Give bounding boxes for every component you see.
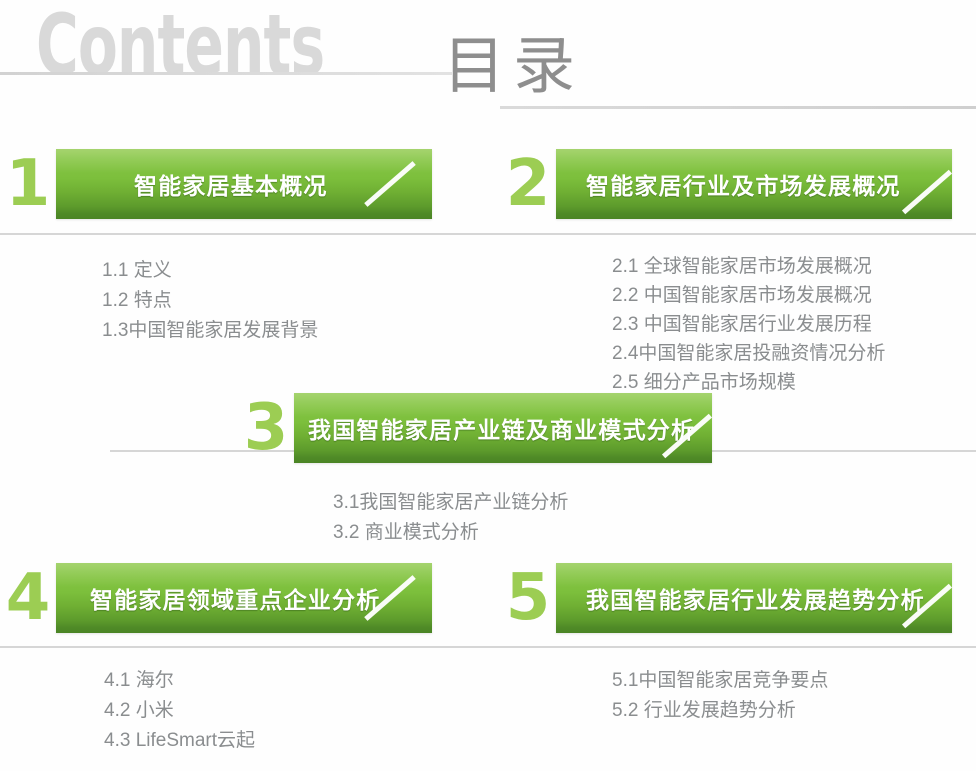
list-item[interactable]: 1.2 特点 <box>102 286 318 316</box>
header-rule-right <box>500 106 976 109</box>
list-item[interactable]: 5.2 行业发展趋势分析 <box>612 696 828 726</box>
list-item[interactable]: 2.4中国智能家居投融资情况分析 <box>612 339 885 368</box>
diagonal-slash-icon <box>902 170 952 214</box>
contents-watermark: Contents <box>36 4 324 88</box>
section-1-title: 智能家居基本概况 <box>134 167 328 201</box>
section-3-title: 我国智能家居产业链及商业模式分析 <box>308 411 695 445</box>
section-2-title: 智能家居行业及市场发展概况 <box>586 167 901 201</box>
section-3-number: 3 <box>238 396 294 460</box>
list-item[interactable]: 3.2 商业模式分析 <box>333 518 568 548</box>
section-3-header: 3 我国智能家居产业链及商业模式分析 <box>238 392 712 464</box>
section-4-bar[interactable]: 智能家居领域重点企业分析 <box>56 563 432 633</box>
section-3[interactable]: 3 我国智能家居产业链及商业模式分析 <box>238 392 712 464</box>
section-3-items: 3.1我国智能家居产业链分析 3.2 商业模式分析 <box>333 488 568 548</box>
section-3-bar[interactable]: 我国智能家居产业链及商业模式分析 <box>294 393 712 463</box>
list-item[interactable]: 2.2 中国智能家居市场发展概况 <box>612 281 885 310</box>
section-1[interactable]: 1 智能家居基本概况 <box>0 148 432 220</box>
list-item[interactable]: 4.3 LifeSmart云起 <box>104 726 255 756</box>
list-item[interactable]: 2.3 中国智能家居行业发展历程 <box>612 310 885 339</box>
list-item[interactable]: 3.1我国智能家居产业链分析 <box>333 488 568 518</box>
section-1-items: 1.1 定义 1.2 特点 1.3中国智能家居发展背景 <box>102 256 318 346</box>
section-5-items: 5.1中国智能家居竞争要点 5.2 行业发展趋势分析 <box>612 666 828 726</box>
section-5-title: 我国智能家居行业发展趋势分析 <box>586 581 925 615</box>
section-2-items: 2.1 全球智能家居市场发展概况 2.2 中国智能家居市场发展概况 2.3 中国… <box>612 252 885 397</box>
diagonal-slash-icon <box>364 161 416 207</box>
list-item[interactable]: 2.1 全球智能家居市场发展概况 <box>612 252 885 281</box>
section-2[interactable]: 2 智能家居行业及市场发展概况 <box>500 148 952 220</box>
list-item[interactable]: 4.1 海尔 <box>104 666 255 696</box>
section-5-bar[interactable]: 我国智能家居行业发展趋势分析 <box>556 563 952 633</box>
list-item[interactable]: 1.3中国智能家居发展背景 <box>102 316 318 346</box>
section-4-header: 4 智能家居领域重点企业分析 <box>0 562 432 634</box>
section-5-number: 5 <box>500 566 556 630</box>
section-4-title: 智能家居领域重点企业分析 <box>90 581 380 615</box>
list-item[interactable]: 4.2 小米 <box>104 696 255 726</box>
list-item[interactable]: 5.1中国智能家居竞争要点 <box>612 666 828 696</box>
section-1-number: 1 <box>0 152 56 216</box>
toc-slide: Contents 目录 1 智能家居基本概况 1.1 定义 1.2 特点 1.3… <box>0 0 976 771</box>
section-1-header: 1 智能家居基本概况 <box>0 148 432 220</box>
section-2-bar[interactable]: 智能家居行业及市场发展概况 <box>556 149 952 219</box>
list-item[interactable]: 1.1 定义 <box>102 256 318 286</box>
section-5[interactable]: 5 我国智能家居行业发展趋势分析 <box>500 562 952 634</box>
section-4-number: 4 <box>0 566 56 630</box>
section-5-header: 5 我国智能家居行业发展趋势分析 <box>500 562 952 634</box>
section-1-bar[interactable]: 智能家居基本概况 <box>56 149 432 219</box>
page-title: 目录 <box>443 30 583 101</box>
section-divider-1 <box>0 233 976 235</box>
section-2-header: 2 智能家居行业及市场发展概况 <box>500 148 952 220</box>
section-divider-3 <box>0 646 976 648</box>
section-4[interactable]: 4 智能家居领域重点企业分析 <box>0 562 432 634</box>
section-2-number: 2 <box>500 152 556 216</box>
header-rule-left <box>0 72 452 75</box>
section-4-items: 4.1 海尔 4.2 小米 4.3 LifeSmart云起 <box>104 666 255 756</box>
